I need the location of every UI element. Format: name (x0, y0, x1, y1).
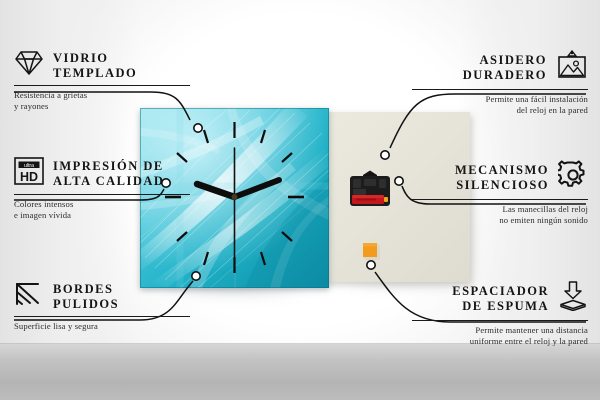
feature-desc: Resistencia a grietasy rayones (14, 90, 190, 112)
feature-title-line1: ASIDERO (480, 53, 547, 67)
feature-desc-line1: Colores intensos (14, 199, 73, 209)
feature-header: ASIDERODURADERO (412, 50, 588, 85)
feature-desc-line1: Permite mantener una distancia (475, 325, 588, 335)
feature-bordes-pulidos: BORDESPULIDOS Superficie lisa y segura (14, 281, 190, 332)
feature-desc: Las manecillas del relojno emiten ningún… (412, 204, 588, 226)
divider (14, 85, 190, 86)
feature-title-line1: MECANISMO (455, 163, 549, 177)
feature-title-line2: DE ESPUMA (462, 299, 549, 313)
feature-title: MECANISMOSILENCIOSO (455, 163, 549, 192)
feature-title-line2: DURADERO (463, 68, 547, 82)
feature-title-line2: SILENCIOSO (456, 178, 549, 192)
divider (412, 89, 588, 90)
picture-hanger-icon (556, 50, 588, 85)
feature-desc-line1: Superficie lisa y segura (14, 321, 98, 331)
feature-impresion-alta-calidad: ultra HD IMPRESIÓN DEALTA CALIDAD Colore… (14, 157, 190, 221)
feature-espaciador-de-espuma: ESPACIADORDE ESPUMA Permite mantener una… (412, 281, 588, 347)
feature-header: MECANISMOSILENCIOSO (412, 160, 588, 195)
ultra-hd-icon-top-label: ultra (24, 163, 34, 169)
feature-title-line1: BORDES (53, 282, 113, 296)
divider (14, 316, 190, 317)
marker-vidrio (194, 124, 202, 132)
feature-desc-line1: Las manecillas del reloj (503, 204, 588, 214)
feature-desc-line1: Permite una fácil instalación (486, 94, 588, 104)
feature-title-line1: IMPRESIÓN DE (53, 159, 164, 173)
feature-mecanismo-silencioso: MECANISMOSILENCIOSO Las manecillas del r… (412, 160, 588, 226)
marker-espaciador (367, 261, 375, 269)
feature-desc-line1: Resistencia a grietas (14, 90, 87, 100)
feature-title-line1: VIDRIO (53, 51, 109, 65)
diamond-icon (14, 50, 44, 81)
feature-desc-line2: y rayones (14, 101, 49, 111)
feature-title: IMPRESIÓN DEALTA CALIDAD (53, 159, 164, 188)
feature-header: ultra HD IMPRESIÓN DEALTA CALIDAD (14, 157, 190, 190)
marker-mecanismo (395, 177, 403, 185)
feature-desc-line2: del reloj en la pared (517, 105, 588, 115)
feature-header: ESPACIADORDE ESPUMA (412, 281, 588, 316)
feature-title: ESPACIADORDE ESPUMA (452, 284, 549, 313)
foam-spacer-icon (558, 281, 588, 316)
feature-header: BORDESPULIDOS (14, 281, 190, 312)
feature-title-line1: ESPACIADOR (452, 284, 549, 298)
gear-icon (558, 160, 588, 195)
ultra-hd-icon: ultra HD (14, 157, 44, 190)
feature-desc: Permite mantener una distanciauniforme e… (412, 325, 588, 347)
feature-title: ASIDERODURADERO (463, 53, 547, 82)
ultra-hd-icon-main-label: HD (20, 170, 38, 184)
feature-title: BORDESPULIDOS (53, 282, 119, 311)
feature-asidero-duradero: ASIDERODURADERO Permite una fácil instal… (412, 50, 588, 116)
feature-desc: Superficie lisa y segura (14, 321, 190, 332)
marker-bordes (192, 272, 200, 280)
feature-title-line2: ALTA CALIDAD (53, 174, 164, 188)
feature-title-line2: PULIDOS (53, 297, 119, 311)
marker-asidero (381, 151, 389, 159)
product-infographic: VIDRIOTEMPLADO Resistencia a grietasy ra… (0, 0, 600, 400)
feature-title-line2: TEMPLADO (53, 66, 137, 80)
divider (412, 320, 588, 321)
feature-desc-line2: e imagen vívida (14, 210, 71, 220)
feature-header: VIDRIOTEMPLADO (14, 50, 190, 81)
divider (412, 199, 588, 200)
polished-edges-icon (14, 281, 44, 312)
feature-title: VIDRIOTEMPLADO (53, 51, 137, 80)
feature-desc: Permite una fácil instalacióndel reloj e… (412, 94, 588, 116)
feature-desc: Colores intensose imagen vívida (14, 199, 190, 221)
feature-desc-line2: uniforme entre el reloj y la pared (470, 336, 588, 346)
feature-vidrio-templado: VIDRIOTEMPLADO Resistencia a grietasy ra… (14, 50, 190, 112)
feature-desc-line2: no emiten ningún sonido (499, 215, 588, 225)
divider (14, 194, 190, 195)
